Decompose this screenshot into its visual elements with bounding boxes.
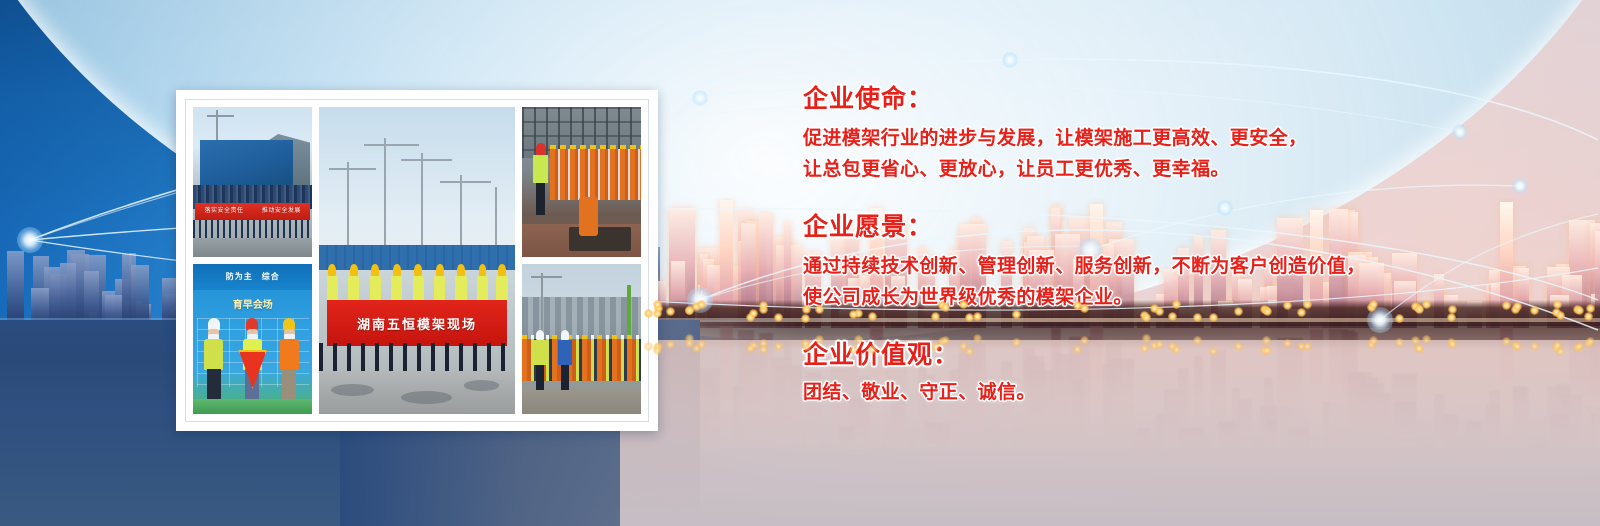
hardhat-icon	[498, 264, 506, 276]
culture-copy: 企业使命： 促进模架行业的进步与发展，让模架施工更高效、更安全， 让总包更省心、…	[803, 84, 1503, 409]
street-lamp-light-reflection	[868, 345, 877, 354]
street-lamp-light	[1283, 301, 1292, 310]
photo-assembly-hoarding: 落实安全责任 推动安全发展	[193, 107, 312, 257]
site-banner: 湖南五恒模架现场	[327, 300, 506, 346]
hardhat-icon	[479, 264, 487, 276]
street-lamp-light-reflection	[1080, 336, 1089, 345]
street-lamp-light-reflection	[1395, 338, 1404, 347]
worker-legs	[193, 220, 312, 238]
street-lamp-light-reflection	[653, 346, 662, 355]
crane-jib-icon	[440, 181, 491, 183]
photo-safety-meeting-board: 防为主 综合 育早会场	[193, 264, 312, 414]
street-lamp-light-reflection	[931, 342, 940, 351]
hardhat-icon	[328, 264, 336, 276]
safety-officer-figure	[532, 143, 549, 215]
puddle-shape	[401, 391, 452, 404]
street-lamp-light	[1415, 305, 1424, 314]
street-lamp-light-reflection	[1502, 337, 1511, 346]
street-lamp-light	[1586, 304, 1595, 313]
street-lamp-light-reflection	[1263, 346, 1272, 355]
network-node	[17, 227, 43, 253]
signboard-top-text: 防为主 综合	[193, 264, 312, 290]
street-lamp-light-reflection	[644, 342, 653, 351]
street-lamp-light	[1193, 313, 1202, 322]
network-node	[1002, 52, 1018, 68]
street-lamp-light-reflection	[697, 340, 706, 349]
street-lamp-light	[1012, 310, 1021, 319]
collage-column-left: 落实安全责任 推动安全发展 防为主 综合 育早会场	[193, 107, 312, 414]
street-lamp-light	[1209, 313, 1218, 322]
ground-surface	[522, 390, 641, 414]
mission-line-1: 促进模架行业的进步与发展，让模架施工更高效、更安全，	[803, 124, 1503, 155]
safety-vest	[204, 339, 223, 370]
safety-vest	[533, 155, 548, 184]
crane-mast-icon	[347, 162, 349, 254]
street-lamp-light	[801, 314, 810, 323]
culture-block-mission: 企业使命： 促进模架行业的进步与发展，让模架施工更高效、更安全， 让总包更省心、…	[803, 84, 1503, 186]
street-lamp-light	[802, 305, 811, 314]
hardhat-icon	[393, 264, 401, 276]
street-lamp-light	[1142, 313, 1151, 322]
vision-heading: 企业愿景：	[803, 212, 1503, 243]
culture-block-vision: 企业愿景： 通过持续技术创新、管理创新、服务创新，不断为客户创造价值， 使公司成…	[803, 212, 1503, 314]
street-lamp-light-reflection	[1553, 341, 1562, 350]
collage-column-right	[522, 107, 641, 414]
worker-figure	[532, 330, 548, 390]
legs-shape	[207, 369, 221, 399]
street-lamp-light	[941, 303, 950, 312]
vision-line-1: 通过持续技术创新、管理创新、服务创新，不断为客户创造价值，	[803, 252, 1503, 283]
photo-red-banner-right-text: 推动安全发展	[262, 208, 301, 214]
values-line-1: 团结、敬业、守正、诚信。	[803, 378, 1503, 409]
street-lamp-light	[1575, 306, 1584, 315]
photo-collage-inner: 落实安全责任 推动安全发展 防为主 综合 育早会场	[185, 99, 649, 422]
crane-jib-icon	[401, 159, 452, 161]
hardhat-icon	[436, 264, 444, 276]
legs-shape	[282, 369, 296, 399]
worker-legs	[319, 343, 514, 374]
street-lamp-light	[1530, 306, 1539, 315]
street-lamp-light-reflection	[1283, 339, 1292, 348]
culture-banner: 落实安全责任 推动安全发展 防为主 综合 育早会场	[0, 0, 1600, 526]
worker-figure	[557, 330, 573, 390]
street-lamp-light-reflection	[801, 339, 810, 348]
hardhat-icon	[350, 264, 358, 276]
street-lamp-light-reflection	[1193, 336, 1202, 345]
worker-figure	[203, 318, 226, 399]
crane-jib-icon	[329, 168, 376, 170]
hardhat-icon	[414, 264, 422, 276]
street-lamp-light-reflection	[1303, 342, 1312, 351]
puddle-shape	[464, 380, 499, 390]
street-lamp-light-reflection	[759, 345, 768, 354]
street-lamp-light	[1553, 300, 1562, 309]
street-lamp-light	[1297, 308, 1306, 317]
hardhat-icon	[561, 330, 569, 340]
street-lamp-light-reflection	[1513, 342, 1522, 351]
legs-shape	[536, 183, 545, 215]
photo-mass-assembly-crane	[522, 264, 641, 414]
photo-briefing-scaffold	[522, 107, 641, 257]
network-node	[1512, 178, 1528, 194]
ground-surface	[193, 238, 312, 258]
collage-column-center: 湖南五恒模架现场	[319, 107, 514, 414]
crane-mast-icon	[460, 175, 462, 255]
street-lamp-light-reflection	[854, 335, 863, 344]
street-lamp-light	[1502, 301, 1511, 310]
hardhat-icon	[371, 264, 379, 276]
puddle-shape	[331, 384, 374, 396]
ground-surface	[319, 371, 514, 414]
crane-jib-icon	[207, 115, 233, 117]
site-hoarding	[200, 140, 293, 188]
street-lamp-light-reflection	[1530, 342, 1539, 351]
street-lamp-light	[973, 312, 982, 321]
network-node	[692, 90, 708, 106]
signboard-sub-text: 育早会场	[200, 293, 305, 314]
street-lamp-light-reflection	[1586, 337, 1595, 346]
safety-vest	[558, 340, 572, 365]
worker-figure	[278, 318, 301, 399]
photo-site-group-banner: 湖南五恒模架现场	[319, 107, 514, 414]
street-lamp-light	[1448, 305, 1457, 314]
safety-vest	[533, 340, 547, 365]
photo-collage-frame: 落实安全责任 推动安全发展 防为主 综合 育早会场	[176, 90, 658, 431]
legs-shape	[561, 365, 570, 390]
worker-crowd	[550, 149, 641, 200]
street-lamp-light	[697, 300, 706, 309]
site-banner-text: 湖南五恒模架现场	[357, 314, 477, 333]
crane-mast-icon	[421, 153, 423, 254]
photo-red-banner: 落实安全责任 推动安全发展	[195, 203, 310, 220]
green-boom-icon	[627, 285, 631, 342]
mission-line-2: 让总包更省心、更放心，让员工更优秀、更幸福。	[803, 155, 1503, 186]
crane-jib-icon	[531, 276, 562, 278]
street-lamp-light	[666, 307, 675, 316]
street-lamp-light	[1513, 302, 1522, 311]
crane-jib-icon	[364, 144, 419, 146]
photo-red-banner-left-text: 落实安全责任	[205, 208, 244, 214]
street-lamp-light-reflection	[941, 336, 950, 345]
grass-strip	[193, 399, 312, 414]
safety-vest	[280, 339, 299, 370]
seated-worker-figure	[579, 197, 598, 236]
hardhat-icon	[457, 264, 465, 276]
hardhat-icon	[536, 143, 546, 155]
legs-shape	[536, 365, 545, 390]
mission-heading: 企业使命：	[803, 84, 1503, 115]
street-lamp-light	[931, 312, 940, 321]
street-lamp-light	[1395, 314, 1404, 323]
street-lamp-light	[868, 312, 877, 321]
crane-mast-icon	[384, 138, 386, 255]
hardhat-icon	[536, 330, 544, 340]
